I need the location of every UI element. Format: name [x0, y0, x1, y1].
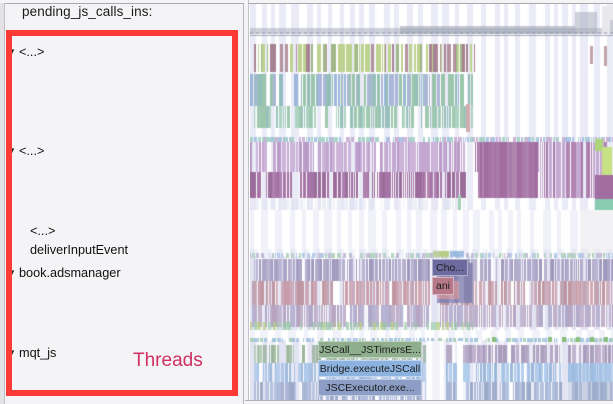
chevron-down-icon[interactable]: ▼ — [8, 344, 19, 361]
flame-chart-canvas-wrap[interactable] — [250, 4, 613, 404]
chart-left-gutter — [245, 0, 249, 404]
jscexecutor-block[interactable]: JSCExecutor.exe... — [318, 379, 422, 396]
tree-item[interactable]: ▼book.adsmanager — [8, 265, 121, 282]
annotation-label-threads: Threads — [133, 350, 203, 372]
tree-item-label: mqt_js — [19, 345, 56, 362]
tree-item[interactable]: ▼<...> — [8, 143, 44, 160]
flame-chart-canvas[interactable] — [250, 4, 613, 404]
annotation-rectangle — [6, 30, 238, 396]
tree-item[interactable]: ▼<...> — [8, 223, 55, 240]
choreographer-block[interactable]: Cho... — [432, 259, 468, 276]
tree-item[interactable]: ▼mqt_js — [8, 345, 56, 362]
tree-item[interactable]: ▼deliverInputEvent — [8, 242, 128, 259]
chevron-down-icon[interactable]: ▼ — [8, 264, 19, 281]
page-title: pending_js_calls_ins: — [22, 4, 152, 19]
tree-item-label: deliverInputEvent — [30, 242, 128, 259]
chevron-down-icon[interactable]: ▼ — [8, 43, 19, 60]
jscall-block[interactable]: JSCall__JSTimersE... — [318, 341, 422, 358]
chart-top-divider — [245, 0, 613, 4]
ani-block[interactable]: ani — [432, 277, 454, 295]
chart-bottom-divider — [245, 400, 613, 404]
chevron-down-icon[interactable]: ▼ — [8, 142, 19, 159]
tree-item-label: book.adsmanager — [19, 265, 121, 282]
panel-left-gutter — [0, 3, 5, 404]
tree-item-label: <...> — [19, 44, 44, 61]
flame-chart-panel[interactable]: Cho...aniJSCall__JSTimersE...Bridge.exec… — [245, 0, 613, 404]
tree-item-label: <...> — [30, 223, 55, 240]
bridge-block[interactable]: Bridge.executeJSCall — [318, 360, 422, 377]
tree-item-label: <...> — [19, 143, 44, 160]
tree-item[interactable]: ▼<...> — [8, 44, 44, 61]
profiler-window: pending_js_calls_ins: ▼<...>▼<...>▼<...>… — [0, 0, 613, 404]
thread-tree-panel: pending_js_calls_ins: ▼<...>▼<...>▼<...>… — [0, 0, 244, 404]
